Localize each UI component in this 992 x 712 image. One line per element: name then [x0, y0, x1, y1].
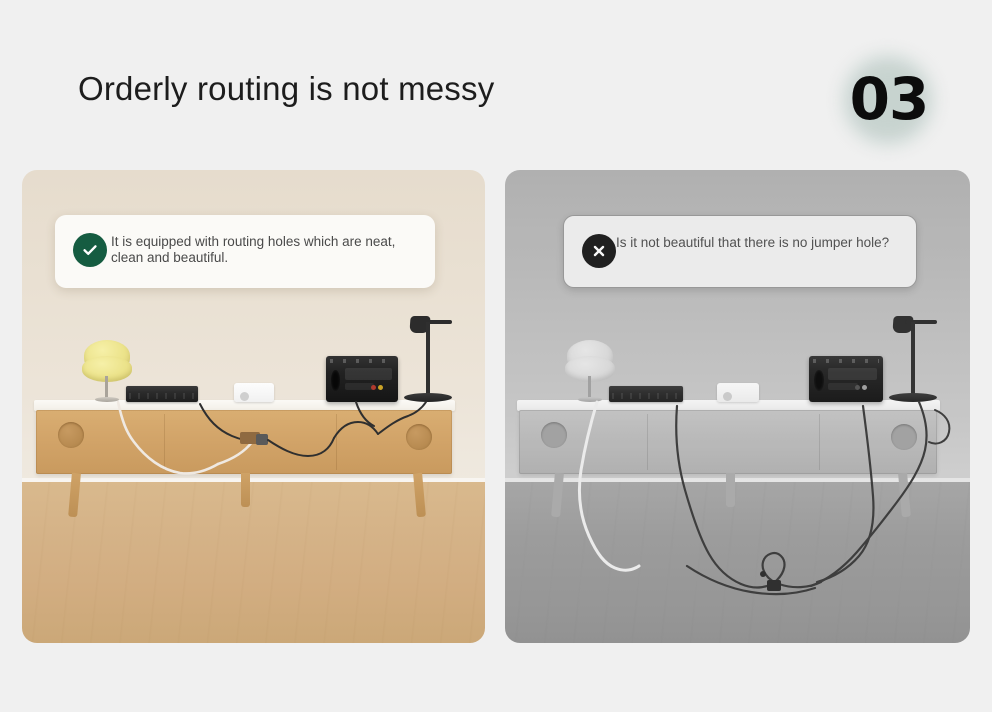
callout-bad: Is it not beautiful that there is no jum…	[563, 215, 917, 288]
step-number-badge: 03	[828, 52, 950, 148]
header: Orderly routing is not messy 03	[0, 0, 992, 160]
callout-good: It is equipped with routing holes which …	[55, 215, 435, 288]
callout-bad-text: Is it not beautiful that there is no jum…	[616, 232, 889, 251]
orderly-cable-routing-photo: It is equipped with routing holes which …	[22, 170, 485, 643]
check-glyph	[81, 241, 99, 259]
cross-glyph	[590, 242, 608, 260]
badge-number-text: 03	[828, 66, 950, 132]
cross-circle-icon	[582, 234, 616, 268]
page-title: Orderly routing is not messy	[78, 70, 494, 108]
check-circle-icon	[73, 233, 107, 267]
callout-good-text: It is equipped with routing holes which …	[111, 231, 419, 266]
messy-cable-routing-photo: Is it not beautiful that there is no jum…	[505, 170, 970, 643]
slide-root: Orderly routing is not messy 03	[0, 0, 992, 712]
